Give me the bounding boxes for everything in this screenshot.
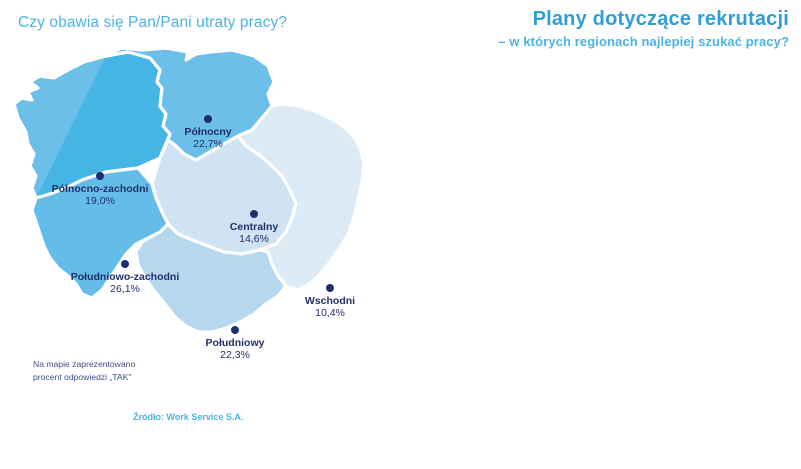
left-panel-title: Czy obawia się Pan/Pani utraty pracy? — [18, 14, 287, 32]
left-map-panel: Czy obawia się Pan/Pani utraty pracy? Pó… — [0, 0, 400, 440]
left-map-svg — [10, 48, 395, 368]
right-panel-subtitle: – w których regionach najlepiej szukać p… — [498, 34, 789, 50]
left-poland-map — [10, 48, 395, 368]
marker-dot-wschodni-left — [326, 284, 334, 292]
left-source-label: Źródło: Work Service S.A. — [133, 412, 243, 422]
right-map-panel: Plany dotyczące rekrutacji – w których r… — [401, 0, 801, 440]
marker-dot-polnocno-zachodni-left — [96, 172, 104, 180]
marker-dot-polnocny-left — [204, 115, 212, 123]
marker-dot-poludniowy-left — [231, 326, 239, 334]
right-panel-title: Plany dotyczące rekrutacji — [498, 8, 789, 31]
note-line: procent odpowiedzi „TAK" — [33, 371, 135, 384]
note-line: Na mapie zaprezentowano — [33, 358, 135, 371]
right-panel-title-block: Plany dotyczące rekrutacji – w których r… — [498, 8, 789, 50]
marker-dot-poludniowo-zachodni-left — [121, 260, 129, 268]
left-map-note: Na mapie zaprezentowano procent odpowied… — [33, 358, 135, 385]
marker-dot-centralny-left — [250, 210, 258, 218]
